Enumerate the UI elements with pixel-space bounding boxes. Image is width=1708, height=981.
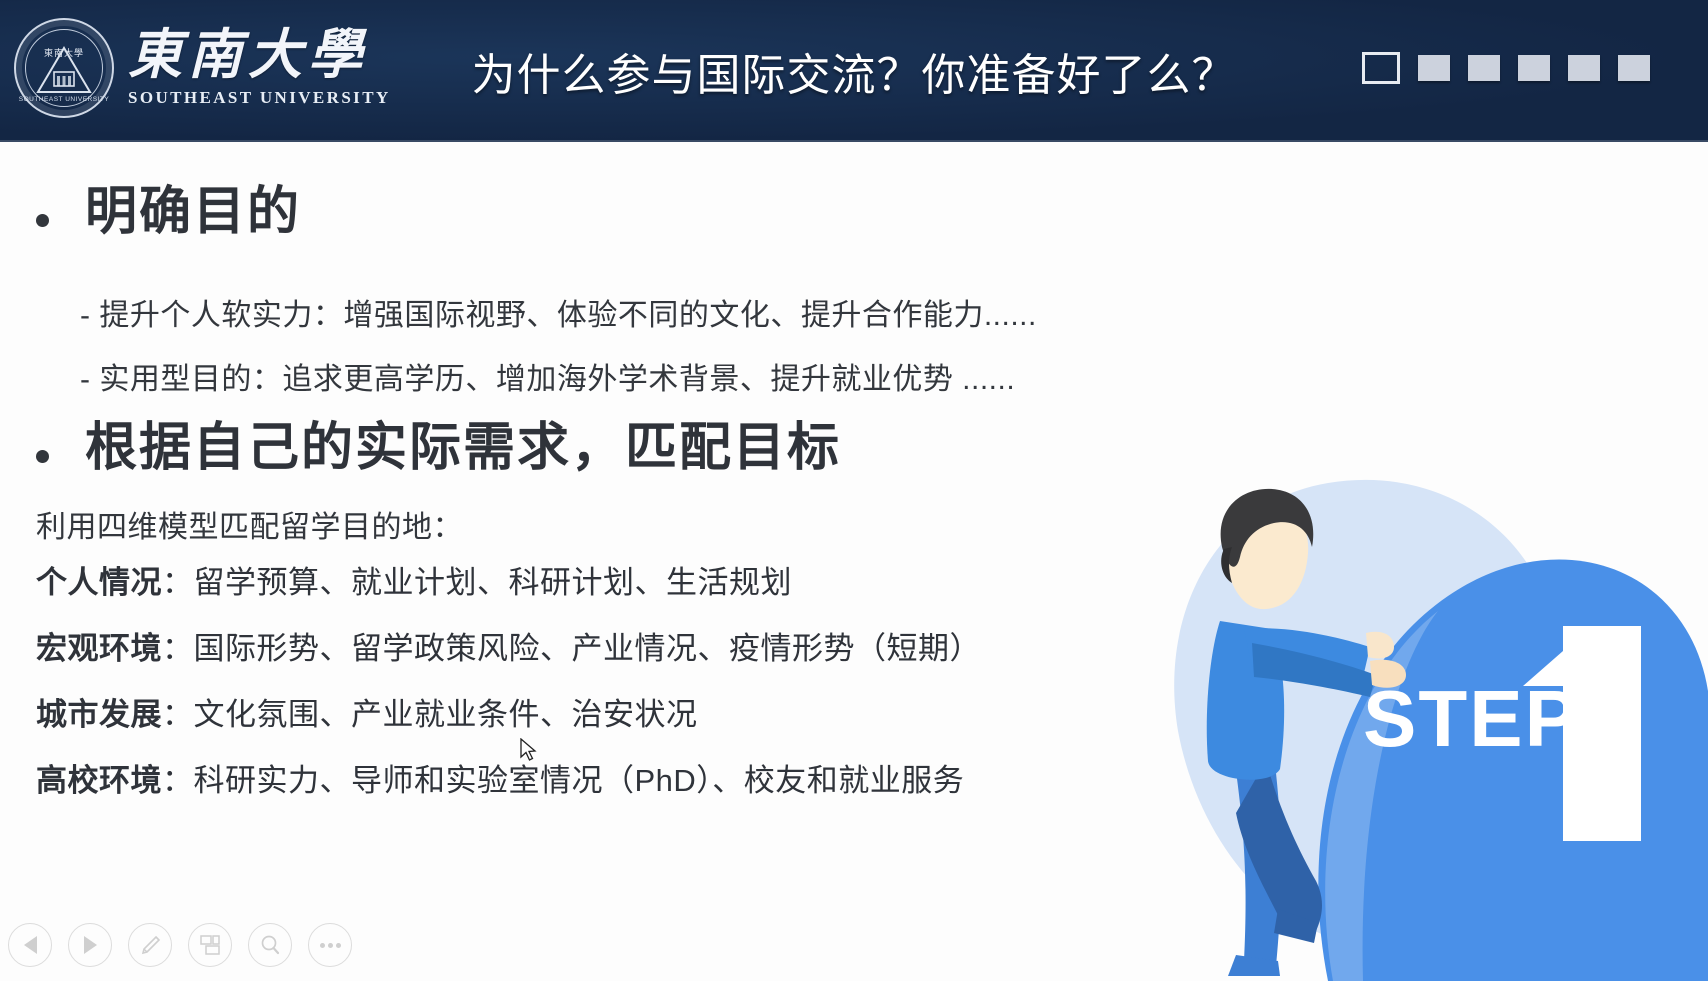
step-label-text: STEP (1363, 674, 1580, 763)
dimension-row-1: 个人情况：留学预算、就业计划、科研计划、生活规划 (36, 557, 792, 602)
logo-chinese-name: 東南大學 (128, 28, 391, 82)
logo-wordmark: 東南大學 SOUTHEAST UNIVERSITY (128, 28, 391, 108)
magnifier-icon (258, 933, 282, 957)
logo-english-name: SOUTHEAST UNIVERSITY (128, 88, 391, 108)
dimension-sep-1: ： (162, 565, 194, 600)
step-illustration-svg: STEP (1148, 461, 1708, 981)
university-seal-icon: 東南大學 SOUTHEAST UNIVERSITY (14, 18, 114, 118)
page-indicator-5[interactable] (1568, 55, 1600, 81)
page-indicator-1[interactable] (1362, 52, 1400, 84)
bullet-1-sub-2: - 实用型目的：追求更高学历、增加海外学术背景、提升就业优势 ...... (80, 354, 1015, 398)
dimension-label-4: 高校环境 (36, 763, 162, 798)
bullet-item-2: 根据自己的实际需求，匹配目标 (36, 422, 841, 474)
dimension-value-4: 科研实力、导师和实验室情况（PhD）、校友和就业服务 (194, 763, 965, 798)
zoom-button[interactable] (248, 923, 292, 967)
dimension-sep-2: ： (162, 631, 194, 666)
more-options-button[interactable] (308, 923, 352, 967)
presentation-slide: 東南大學 SOUTHEAST UNIVERSITY 東南大學 SOUTHEAST… (0, 0, 1708, 981)
slide-overview-button[interactable] (188, 923, 232, 967)
bullet-2-heading: 根据自己的实际需求，匹配目标 (85, 422, 841, 474)
intro-line: 利用四维模型匹配留学目的地： (36, 502, 463, 546)
ellipsis-icon (320, 943, 341, 948)
dimension-row-4: 高校环境：科研实力、导师和实验室情况（PhD）、校友和就业服务 (36, 755, 964, 800)
prev-slide-button[interactable] (8, 923, 52, 967)
slide-header: 東南大學 SOUTHEAST UNIVERSITY 東南大學 SOUTHEAST… (0, 0, 1708, 142)
dimension-value-3: 文化氛围、产业就业条件、治安状况 (194, 697, 698, 732)
university-logo: 東南大學 SOUTHEAST UNIVERSITY 東南大學 SOUTHEAST… (14, 18, 391, 118)
dimension-value-2: 国际形势、留学政策风险、产业情况、疫情形势（短期） (194, 631, 982, 666)
slide-body: 明确目的 - 提升个人软实力：增强国际视野、体验不同的文化、提升合作能力....… (0, 142, 1708, 981)
dimension-label-1: 个人情况 (36, 565, 162, 600)
seal-ring-text: SOUTHEAST UNIVERSITY (16, 96, 112, 103)
bullet-1-heading: 明确目的 (85, 186, 301, 238)
triangle-left-icon (24, 936, 37, 954)
dimension-row-2: 宏观环境：国际形势、留学政策风险、产业情况、疫情形势（短期） (36, 623, 981, 668)
pen-button[interactable] (128, 923, 172, 967)
dimension-label-3: 城市发展 (36, 697, 162, 732)
dimension-value-1: 留学预算、就业计划、科研计划、生活规划 (194, 565, 793, 600)
page-indicators (1362, 52, 1650, 84)
mouse-cursor-icon (520, 738, 540, 764)
pen-icon (138, 933, 162, 957)
slide-toolbar (8, 923, 352, 967)
dimension-row-3: 城市发展：文化氛围、产业就业条件、治安状况 (36, 689, 698, 734)
bullet-dot-icon (36, 450, 49, 463)
dimension-sep-4: ： (162, 763, 194, 798)
bullet-dot-icon (36, 214, 49, 227)
bullet-1-sub-1: - 提升个人软实力：增强国际视野、体验不同的文化、提升合作能力...... (80, 290, 1037, 334)
bullet-item-1: 明确目的 (36, 186, 301, 238)
triangle-right-icon (84, 936, 97, 954)
dimension-sep-3: ： (162, 697, 194, 732)
page-indicator-2[interactable] (1418, 55, 1450, 81)
grid-slides-icon (198, 933, 222, 957)
page-indicator-6[interactable] (1618, 55, 1650, 81)
step-illustration: STEP (1148, 461, 1708, 981)
page-indicator-3[interactable] (1468, 55, 1500, 81)
page-indicator-4[interactable] (1518, 55, 1550, 81)
dimension-label-2: 宏观环境 (36, 631, 162, 666)
next-slide-button[interactable] (68, 923, 112, 967)
